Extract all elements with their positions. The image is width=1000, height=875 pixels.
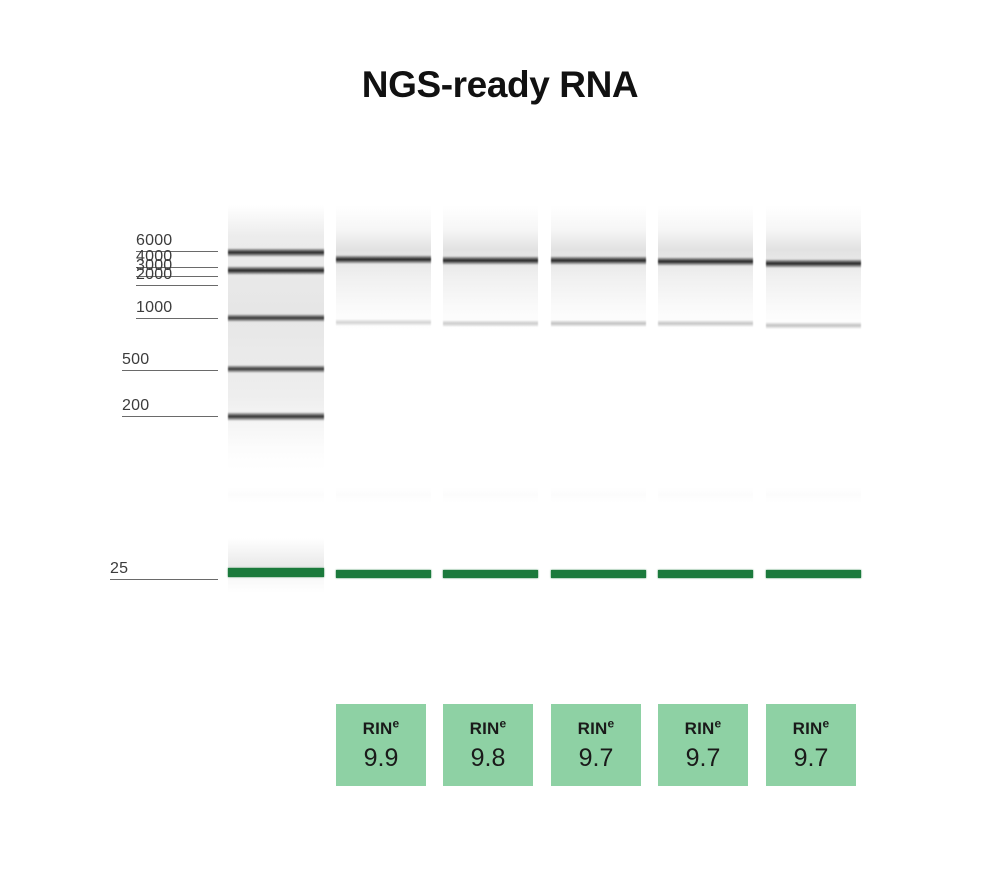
ladder-label-text: 2000 (136, 266, 196, 284)
ladder-tick-line (110, 579, 218, 580)
gel-band-ladder-1000 (228, 314, 324, 322)
lane-background-smear (443, 205, 538, 330)
rin-label-text: RIN (470, 719, 500, 738)
marker-band-sample-3 (551, 570, 646, 578)
rin-label-text: RIN (685, 719, 715, 738)
lane-background-smear (658, 205, 753, 330)
rin-value: 9.7 (794, 746, 829, 771)
lane-background-smear (228, 205, 324, 470)
marker-band-sample-4 (658, 570, 753, 578)
ladder-label-text: 25 (110, 560, 170, 578)
rin-score-box-2: RINe9.8 (443, 704, 533, 786)
gel-lane-sample-1 (336, 205, 431, 330)
gel-lane-sample-2 (443, 205, 538, 330)
marker-band-sample-2 (443, 570, 538, 578)
rin-label: RINe (470, 720, 507, 737)
rin-value: 9.7 (579, 746, 614, 771)
gel-faint-band-sample-3 (551, 487, 646, 503)
gel-band-sample-5-low (766, 322, 861, 329)
gel-image-figure: NGS-ready RNA 60004000300020001000500200… (0, 0, 1000, 875)
rin-label-text: RIN (363, 719, 393, 738)
rin-label-superscript: e (393, 716, 400, 730)
gel-band-sample-4-low (658, 320, 753, 327)
gel-band-sample-2-low (443, 320, 538, 327)
marker-band-ladder (228, 568, 324, 577)
gel-band-sample-4-main (658, 257, 753, 266)
gel-band-sample-2-main (443, 256, 538, 265)
rin-label-superscript: e (823, 716, 830, 730)
rin-score-box-4: RINe9.7 (658, 704, 748, 786)
gel-band-sample-1-low (336, 319, 431, 326)
marker-band-sample-1 (336, 570, 431, 578)
rin-label-superscript: e (608, 716, 615, 730)
gel-band-sample-1-main (336, 255, 431, 264)
ladder-tick-line (136, 285, 218, 286)
rin-label-text: RIN (793, 719, 823, 738)
rin-value: 9.7 (686, 746, 721, 771)
lane-background-smear (336, 205, 431, 330)
rin-score-box-3: RINe9.7 (551, 704, 641, 786)
ladder-label-text: 500 (122, 351, 182, 369)
rin-label: RINe (363, 720, 400, 737)
ladder-tick-line (122, 370, 218, 371)
gel-lane-ladder (228, 205, 324, 470)
ladder-tick-line (136, 318, 218, 319)
rin-label: RINe (685, 720, 722, 737)
gel-faint-band-sample-2 (443, 487, 538, 503)
rin-label: RINe (578, 720, 615, 737)
gel-band-sample-3-low (551, 320, 646, 327)
rin-score-box-5: RINe9.7 (766, 704, 856, 786)
rin-value: 9.9 (364, 746, 399, 771)
ladder-label-text: 1000 (136, 299, 196, 317)
marker-glow-ladder (228, 538, 324, 593)
gel-faint-band-sample-4 (658, 487, 753, 503)
rin-label-superscript: e (500, 716, 507, 730)
gel-faint-band-sample-5 (766, 487, 861, 503)
gel-lane-sample-3 (551, 205, 646, 330)
rin-label-superscript: e (715, 716, 722, 730)
ladder-label-text: 200 (122, 397, 182, 415)
rin-value: 9.8 (471, 746, 506, 771)
lane-background-smear (551, 205, 646, 330)
ladder-tick-line (122, 416, 218, 417)
gel-band-ladder-200 (228, 412, 324, 421)
gel-band-ladder-500 (228, 365, 324, 373)
gel-band-ladder-6000 (228, 248, 324, 257)
gel-band-sample-5-main (766, 259, 861, 268)
rin-label: RINe (793, 720, 830, 737)
marker-band-sample-5 (766, 570, 861, 578)
gel-faint-band-ladder (228, 487, 324, 503)
rin-label-text: RIN (578, 719, 608, 738)
rin-score-box-1: RINe9.9 (336, 704, 426, 786)
gel-faint-band-sample-1 (336, 487, 431, 503)
gel-lane-sample-4 (658, 205, 753, 330)
gel-band-ladder-4000 (228, 266, 324, 275)
gel-band-sample-3-main (551, 256, 646, 265)
